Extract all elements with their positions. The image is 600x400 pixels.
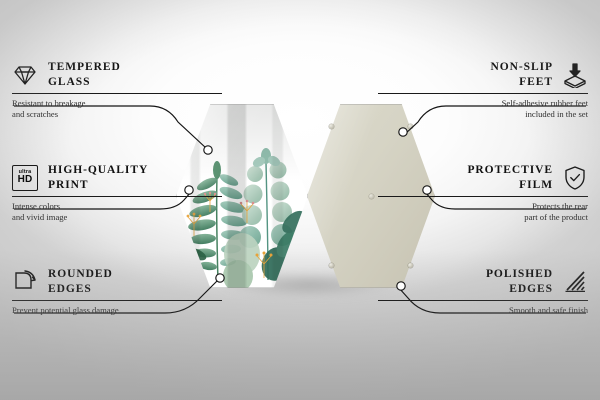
divider [12,196,222,197]
rubber-foot [329,124,334,129]
feature-title-line1: TEMPERED [48,61,121,73]
rubber-foot [329,263,334,268]
feature-desc-line1: Intense colors [12,201,60,211]
infographic-canvas: TEMPERED GLASS Resistant to breakage and… [0,0,600,400]
feature-title-line2: FILM [519,179,553,191]
divider [378,93,588,94]
divider [12,300,222,301]
feature-title-line1: NON-SLIP [490,61,553,73]
diamond-icon [12,62,38,88]
feature-desc-line1: Prevent potential glass damage [12,305,119,315]
feature-desc-line2: and scratches [12,109,58,119]
feature-desc-line2: included in the set [525,109,588,119]
feature-protective-film: PROTECTIVE FILM Protects the rear part o… [378,163,588,224]
feature-title-line2: PRINT [48,179,89,191]
feature-title-line1: ROUNDED [48,268,113,280]
feature-tempered-glass: TEMPERED GLASS Resistant to breakage and… [12,60,222,121]
divider [12,93,222,94]
feature-desc-line1: Protects the rear [532,201,588,211]
feature-title-line1: POLISHED [486,268,553,280]
feature-desc-line1: Resistant to breakage [12,98,86,108]
feature-desc-line1: Self-adhesive rubber feet [502,98,588,108]
feature-desc-line1: Smooth and safe finish [509,305,588,315]
feature-title-line2: EDGES [48,283,92,295]
feature-title-line2: FEET [519,76,553,88]
rounded-corner-icon [12,269,38,295]
rubber-foot [369,194,374,199]
feature-desc-line2: and vivid image [12,212,67,222]
ultra-hd-icon-bottom: HD [18,175,33,185]
shield-check-icon [562,165,588,191]
divider [378,300,588,301]
feature-high-quality-print: ultra HD HIGH-QUALITY PRINT Intense colo… [12,163,222,224]
feature-title-line2: GLASS [48,76,90,88]
diagonal-hatch-icon [562,269,588,295]
feature-title-line2: EDGES [509,283,553,295]
ultra-hd-icon: ultra HD [12,165,38,191]
press-down-pad-icon [562,62,588,88]
rubber-foot [408,124,413,129]
feature-polished-edges: POLISHED EDGES Smooth and safe finish [378,267,588,316]
feature-non-slip-feet: NON-SLIP FEET Self-adhesive rubber feet … [378,60,588,121]
feature-title-line1: PROTECTIVE [467,164,553,176]
feature-desc-line2: part of the product [524,212,588,222]
feature-title-line1: HIGH-QUALITY [48,164,148,176]
feature-rounded-edges: ROUNDED EDGES Prevent potential glass da… [12,267,222,316]
divider [378,196,588,197]
